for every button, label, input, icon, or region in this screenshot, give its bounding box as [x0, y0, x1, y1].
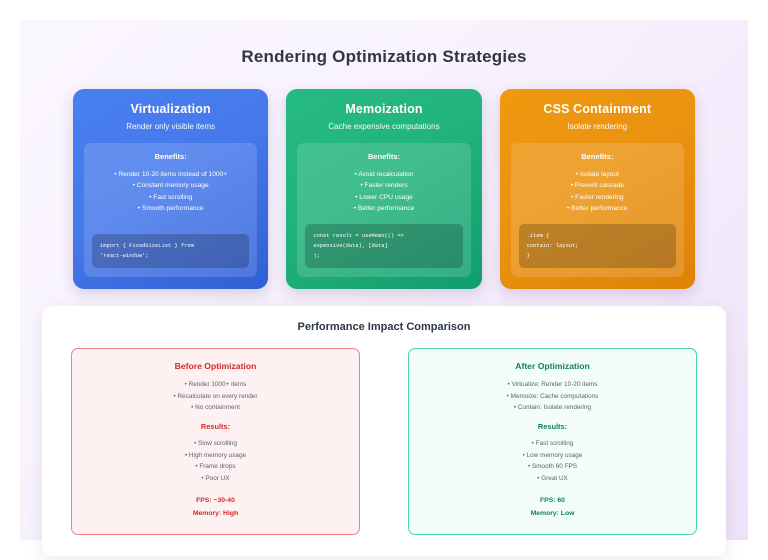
benefit-item: • Render 10-20 items instead of 1000+	[92, 169, 249, 180]
card-title: Virtualization	[84, 102, 257, 116]
metric-fps: FPS: ~30-40	[82, 495, 349, 508]
benefits-heading: Benefits:	[305, 152, 462, 161]
before-conditions-list: • Render 1000+ items • Recalculate on ev…	[82, 379, 349, 413]
benefits-heading: Benefits:	[92, 152, 249, 161]
code-line: contain: layout;	[527, 241, 668, 251]
list-item: • Low memory usage	[419, 450, 686, 461]
after-conditions-list: • Virtualize: Render 10-20 items • Memoi…	[419, 379, 686, 413]
performance-comparison-container: Performance Impact Comparison Before Opt…	[42, 306, 726, 556]
metric-memory: Memory: High	[82, 508, 349, 521]
list-item: • High memory usage	[82, 450, 349, 461]
list-item: • Great UX	[419, 473, 686, 484]
strategy-cards-row: Virtualization Render only visible items…	[42, 89, 726, 289]
metric-fps: FPS: 60	[419, 495, 686, 508]
results-heading: Results:	[419, 422, 686, 431]
list-item: • Render 1000+ items	[82, 379, 349, 390]
after-metrics: FPS: 60 Memory: Low	[419, 495, 686, 520]
list-item: • No containment	[82, 402, 349, 413]
strategy-card-virtualization[interactable]: Virtualization Render only visible items…	[73, 89, 268, 289]
metric-memory: Memory: Low	[419, 508, 686, 521]
card-subtitle: Isolate rendering	[511, 122, 684, 131]
benefit-item: • Avoid recalculation	[305, 169, 462, 180]
code-line: expensive(data), [data]	[313, 241, 454, 251]
code-line: .item {	[527, 231, 668, 241]
page-title: Rendering Optimization Strategies	[42, 47, 726, 67]
strategy-card-memoization[interactable]: Memoization Cache expensive computations…	[286, 89, 481, 289]
benefits-heading: Benefits:	[519, 152, 676, 161]
benefits-list: • Render 10-20 items instead of 1000+ • …	[92, 169, 249, 214]
list-item: • Frame drops	[82, 461, 349, 472]
panel-title: After Optimization	[419, 361, 686, 371]
list-item: • Poor UX	[82, 473, 349, 484]
code-line: );	[313, 251, 454, 261]
code-line: 'react-window';	[100, 251, 241, 261]
page-root: Rendering Optimization Strategies Virtua…	[20, 20, 748, 540]
benefits-panel: Benefits: • Isolate layout • Prevent cas…	[511, 143, 684, 277]
after-optimization-panel[interactable]: After Optimization • Virtualize: Render …	[408, 348, 697, 535]
after-results-list: • Fast scrolling • Low memory usage • Sm…	[419, 438, 686, 484]
results-heading: Results:	[82, 422, 349, 431]
list-item: • Contain: Isolate rendering	[419, 402, 686, 413]
panel-title: Before Optimization	[82, 361, 349, 371]
list-item: • Recalculate on every render	[82, 391, 349, 402]
benefits-list: • Avoid recalculation • Faster renders •…	[305, 169, 462, 214]
before-optimization-panel[interactable]: Before Optimization • Render 1000+ items…	[71, 348, 360, 535]
card-subtitle: Cache expensive computations	[297, 122, 470, 131]
benefit-item: • Isolate layout	[519, 169, 676, 180]
card-title: Memoization	[297, 102, 470, 116]
comparison-panels-row: Before Optimization • Render 1000+ items…	[71, 348, 697, 535]
card-subtitle: Render only visible items	[84, 122, 257, 131]
benefit-item: • Fast scrolling	[92, 192, 249, 203]
benefit-item: • Smooth performance	[92, 203, 249, 214]
code-snippet: const result = useMemo(() => expensive(d…	[305, 224, 462, 268]
code-line: import { FixedSizeList } from	[100, 241, 241, 251]
card-title: CSS Containment	[511, 102, 684, 116]
benefits-list: • Isolate layout • Prevent cascade • Fas…	[519, 169, 676, 214]
benefit-item: • Constant memory usage	[92, 180, 249, 191]
code-line: const result = useMemo(() =>	[313, 231, 454, 241]
list-item: • Fast scrolling	[419, 438, 686, 449]
benefit-item: • Faster renders	[305, 180, 462, 191]
benefit-item: • Better performance	[519, 203, 676, 214]
list-item: • Virtualize: Render 10-20 items	[419, 379, 686, 390]
code-snippet: .item { contain: layout; }	[519, 224, 676, 268]
benefits-panel: Benefits: • Render 10-20 items instead o…	[84, 143, 257, 277]
benefit-item: • Prevent cascade	[519, 180, 676, 191]
code-snippet: import { FixedSizeList } from 'react-win…	[92, 234, 249, 268]
benefit-item: • Better performance	[305, 203, 462, 214]
list-item: • Memoize: Cache computations	[419, 391, 686, 402]
benefit-item: • Faster rendering	[519, 192, 676, 203]
strategy-card-css-containment[interactable]: CSS Containment Isolate rendering Benefi…	[500, 89, 695, 289]
benefit-item: • Lower CPU usage	[305, 192, 462, 203]
before-metrics: FPS: ~30-40 Memory: High	[82, 495, 349, 520]
benefits-panel: Benefits: • Avoid recalculation • Faster…	[297, 143, 470, 277]
before-results-list: • Slow scrolling • High memory usage • F…	[82, 438, 349, 484]
code-line: }	[527, 251, 668, 261]
list-item: • Smooth 60 FPS	[419, 461, 686, 472]
list-item: • Slow scrolling	[82, 438, 349, 449]
comparison-title: Performance Impact Comparison	[71, 321, 697, 333]
